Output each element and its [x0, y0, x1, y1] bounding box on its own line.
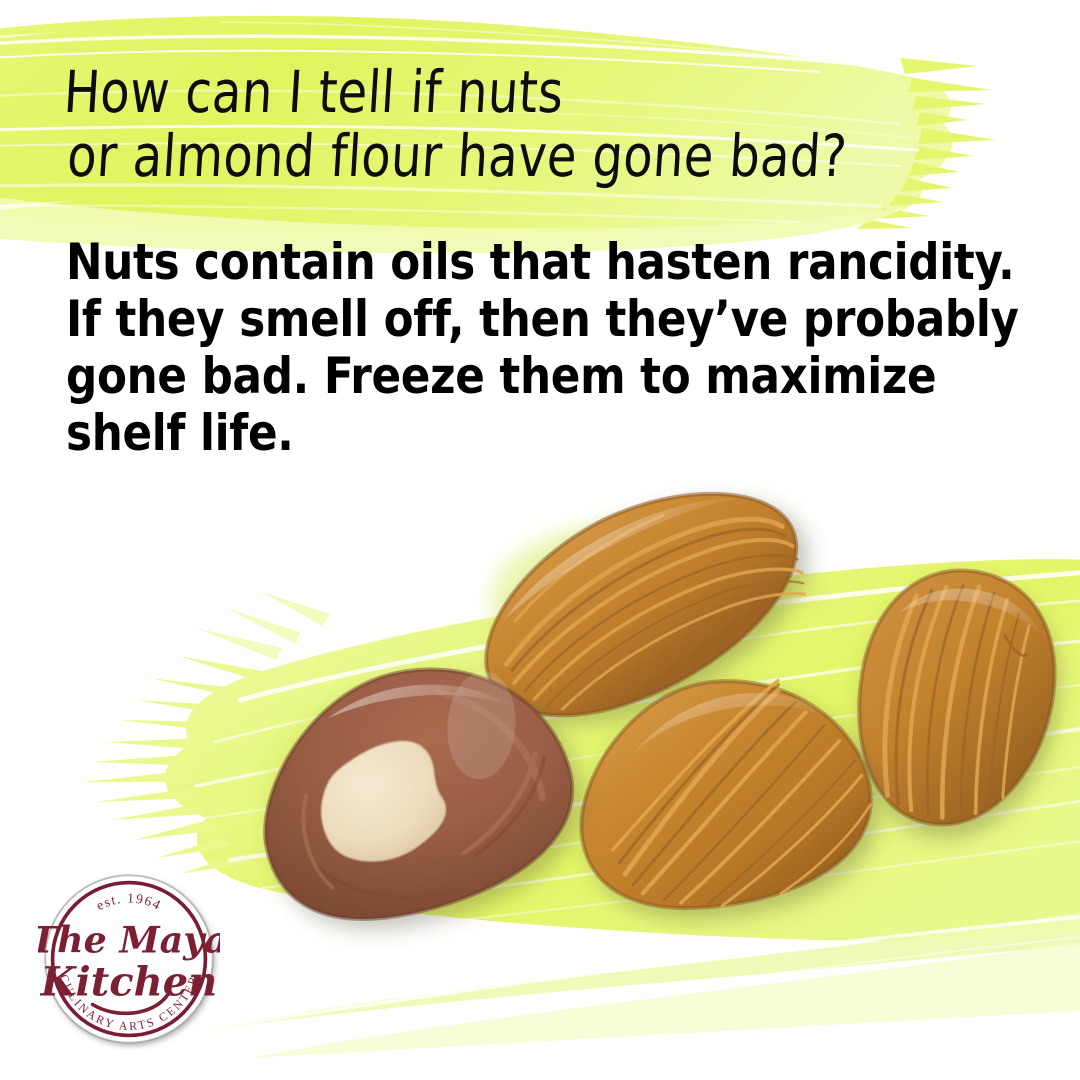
- maya-kitchen-logo[interactable]: est. 1964 The Maya Kitchen CULINARY ARTS…: [38, 868, 220, 1050]
- headline: How can I tell if nuts or almond flour h…: [58, 60, 875, 188]
- body-line-3: gone bad. Freeze them to maximize: [66, 348, 968, 405]
- social-tip-card: How can I tell if nuts or almond flour h…: [0, 0, 1080, 1080]
- logo-name-top: The Maya: [38, 919, 220, 962]
- body-copy: Nuts contain oils that hasten rancidity.…: [66, 234, 968, 462]
- body-line-1: Nuts contain oils that hasten rancidity.: [66, 234, 968, 291]
- body-line-4: shelf life.: [66, 405, 968, 462]
- headline-line-1: How can I tell if nuts: [62, 60, 876, 124]
- headline-line-2: or almond flour have gone bad?: [66, 124, 872, 188]
- body-line-2: If they smell off, then they’ve probably: [66, 291, 968, 348]
